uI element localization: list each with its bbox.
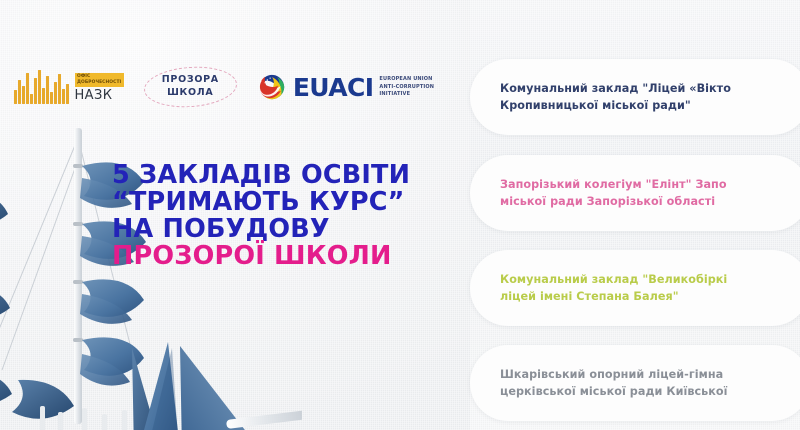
school-card-1[interactable]: Комунальний заклад "Ліцей «Вікто Кропивн… — [470, 59, 800, 135]
school-card-list: Комунальний заклад "Ліцей «Вікто Кропивн… — [470, 0, 800, 430]
logo-bar: ОФІС ДОБРОЧЕСНОСТІ НАЗК ПРОЗОРА ШКОЛА — [14, 60, 434, 114]
prozora-line-1: ПРОЗОРА — [162, 74, 219, 87]
barcode-bars-icon — [14, 70, 69, 104]
euaci-triangle-swirl-icon — [257, 72, 287, 102]
euaci-subtitle: EUROPEAN UNION ANTI-CORRUPTION INITIATIV… — [379, 75, 434, 99]
school-card-2-text: Запорізький колегіум "Елінт" Запо місько… — [470, 176, 733, 210]
school-card-1-text: Комунальний заклад "Ліцей «Вікто Кропивн… — [470, 80, 737, 114]
school-card-3[interactable]: Комунальний заклад "Великобіркі ліцей ім… — [470, 250, 800, 326]
prozora-shkola-logo: ПРОЗОРА ШКОЛА — [146, 65, 235, 109]
nazk-office-chip: ОФІС ДОБРОЧЕСНОСТІ — [75, 73, 124, 87]
school-card-2[interactable]: Запорізький колегіум "Елінт" Запо місько… — [470, 155, 800, 231]
headline-block: 5 ЗАКЛАДІВ ОСВІТИ “ТРИМАЮТЬ КУРС” НА ПОБ… — [112, 162, 410, 270]
poster-canvas: ОФІС ДОБРОЧЕСНОСТІ НАЗК ПРОЗОРА ШКОЛА — [0, 0, 800, 430]
headline-line-2: “ТРИМАЮТЬ КУРС” — [112, 189, 410, 216]
euaci-logo: EUACI EUROPEAN UNION ANTI-CORRUPTION INI… — [257, 72, 434, 102]
prozora-line-2: ШКОЛА — [167, 87, 213, 100]
school-card-4-text: Шкарівський опорний ліцей-гімна церківсь… — [470, 366, 734, 400]
headline-line-3: НА ПОБУДОВУ — [112, 216, 410, 243]
nazk-abbreviation: НАЗК — [75, 89, 113, 102]
headline-line-4: ПРОЗОРОЇ ШКОЛИ — [112, 243, 410, 270]
euaci-wordmark: EUACI — [293, 75, 374, 100]
headline-line-1: 5 ЗАКЛАДІВ ОСВІТИ — [112, 162, 410, 189]
nazk-logo: ОФІС ДОБРОЧЕСНОСТІ НАЗК — [14, 70, 124, 104]
school-card-3-text: Комунальний заклад "Великобіркі ліцей ім… — [470, 271, 733, 305]
school-card-4[interactable]: Шкарівський опорний ліцей-гімна церківсь… — [470, 345, 800, 421]
